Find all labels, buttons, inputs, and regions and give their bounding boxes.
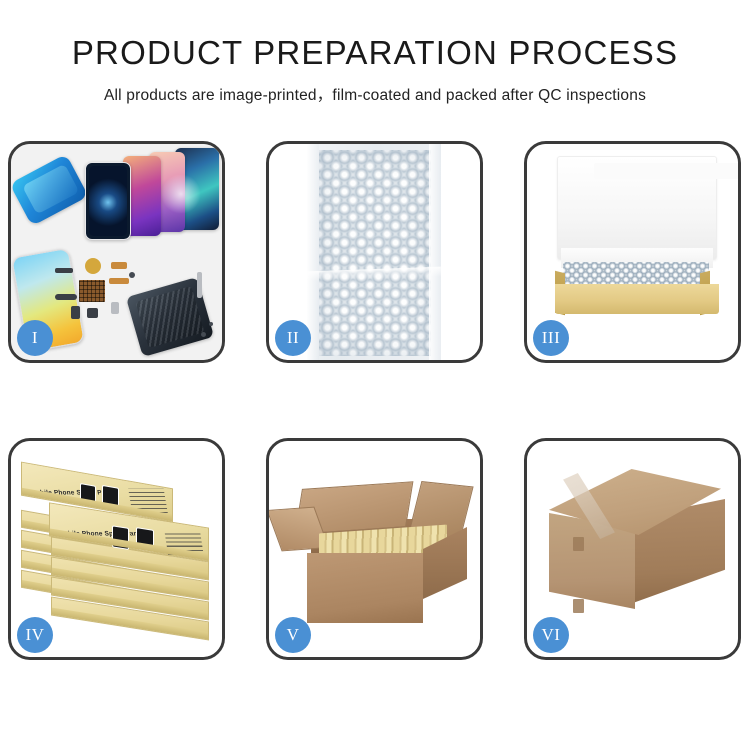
step-badge-3: III [533,320,569,356]
header: PRODUCT PREPARATION PROCESS All products… [0,0,750,105]
connector-strip-part-icon [55,294,77,300]
chip-array-part-icon [79,280,105,302]
vibrator-motor-part-icon [87,308,98,318]
step-panel-4[interactable]: Mobile Phone Spare Parts Mobile Phone Sp… [8,438,225,660]
screw-part-icon [201,332,206,337]
tweezers-tool-icon [197,272,202,298]
speaker-coil-part-icon [85,258,101,274]
lcd-screen-panel-icon [85,162,131,240]
step-panel-5[interactable]: V [266,438,483,660]
step-badge-6: VI [533,617,569,653]
glare-highlight [161,174,201,214]
carton-seal-tab [573,537,584,551]
flex-cable-part-icon [109,278,129,284]
screw-part-icon [129,272,135,278]
white-box-lid-icon [557,156,717,260]
screw-part-icon [209,322,213,326]
step-panel-1[interactable]: I [8,141,225,363]
step-badge-1: I [17,320,53,356]
product-preparation-process-page: PRODUCT PREPARATION PROCESS All products… [0,0,750,750]
page-subtitle: All products are image-printed，film-coat… [0,83,750,105]
retail-box-stack-icon: Mobile Phone Spare Parts Mobile Phone Sp… [19,459,219,645]
box-lid-tab [594,163,738,179]
step-badge-4: IV [17,617,53,653]
camera-module-part-icon [71,306,80,319]
carton-seal-tab [573,599,584,613]
bubble-pattern [319,150,431,356]
earpiece-mesh-part-icon [55,268,73,273]
kraft-box-front-icon [555,284,719,314]
step-panel-6[interactable]: VI [524,438,741,660]
step-panel-2[interactable]: II [266,141,483,363]
page-title: PRODUCT PREPARATION PROCESS [0,36,750,71]
bubble-wrap-pouch-icon [307,144,441,360]
pouch-seam-right [429,144,441,360]
process-step-grid: I II [8,141,742,678]
metal-bracket-part-icon [111,302,119,314]
carton-front-panel [307,553,423,623]
step-badge-2: II [275,320,311,356]
pouch-seam-left [307,144,319,360]
step-badge-5: V [275,617,311,653]
flex-cable-part-icon [111,262,127,269]
step-panel-3[interactable]: III [524,141,741,363]
